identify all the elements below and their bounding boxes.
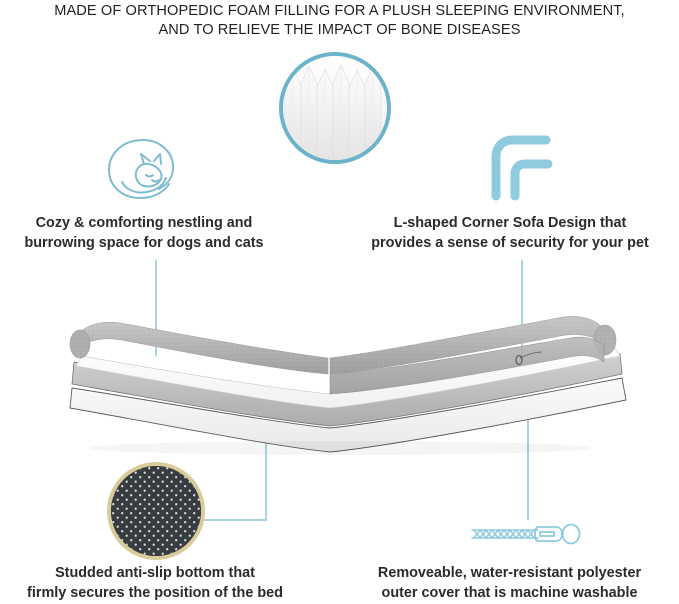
l-shape-corner-icon [488, 134, 562, 202]
studded-bottom-icon [107, 462, 205, 560]
headline-line-2: AND TO RELIEVE THE IMPACT OF BONE DISEAS… [0, 21, 679, 40]
callout-lshape-line-1: L-shaped Corner Sofa Design that [340, 213, 679, 233]
callout-text-lshape: L-shaped Corner Sofa Design that provide… [340, 213, 679, 253]
callout-lshape-line-2: provides a sense of security for your pe… [340, 233, 679, 253]
callout-studded-line-1: Studded anti-slip bottom that [0, 563, 310, 583]
product-image-pet-bed [30, 296, 650, 456]
zipper-icon [468, 521, 584, 547]
infographic-canvas: MADE OF ORTHOPEDIC FOAM FILLING FOR A PL… [0, 0, 679, 604]
page-title: MADE OF ORTHOPEDIC FOAM FILLING FOR A PL… [0, 2, 679, 40]
callout-nestling-line-1: Cozy & comforting nestling and [0, 213, 294, 233]
callout-text-studded: Studded anti-slip bottom that firmly sec… [0, 563, 310, 603]
sleeping-pet-icon [102, 134, 184, 206]
callout-studded-line-2: firmly secures the position of the bed [0, 583, 310, 603]
callout-nestling-line-2: burrowing space for dogs and cats [0, 233, 294, 253]
callout-text-cover: Removeable, water-resistant polyester ou… [340, 563, 679, 603]
headline-line-1: MADE OF ORTHOPEDIC FOAM FILLING FOR A PL… [54, 3, 625, 19]
orthopedic-foam-texture-icon [279, 52, 391, 164]
callout-text-nestling: Cozy & comforting nestling and burrowing… [0, 213, 294, 253]
callout-cover-line-1: Removeable, water-resistant polyester [340, 563, 679, 583]
callout-cover-line-2: outer cover that is machine washable [340, 583, 679, 603]
connector-line-studded-horizontal [196, 519, 267, 521]
